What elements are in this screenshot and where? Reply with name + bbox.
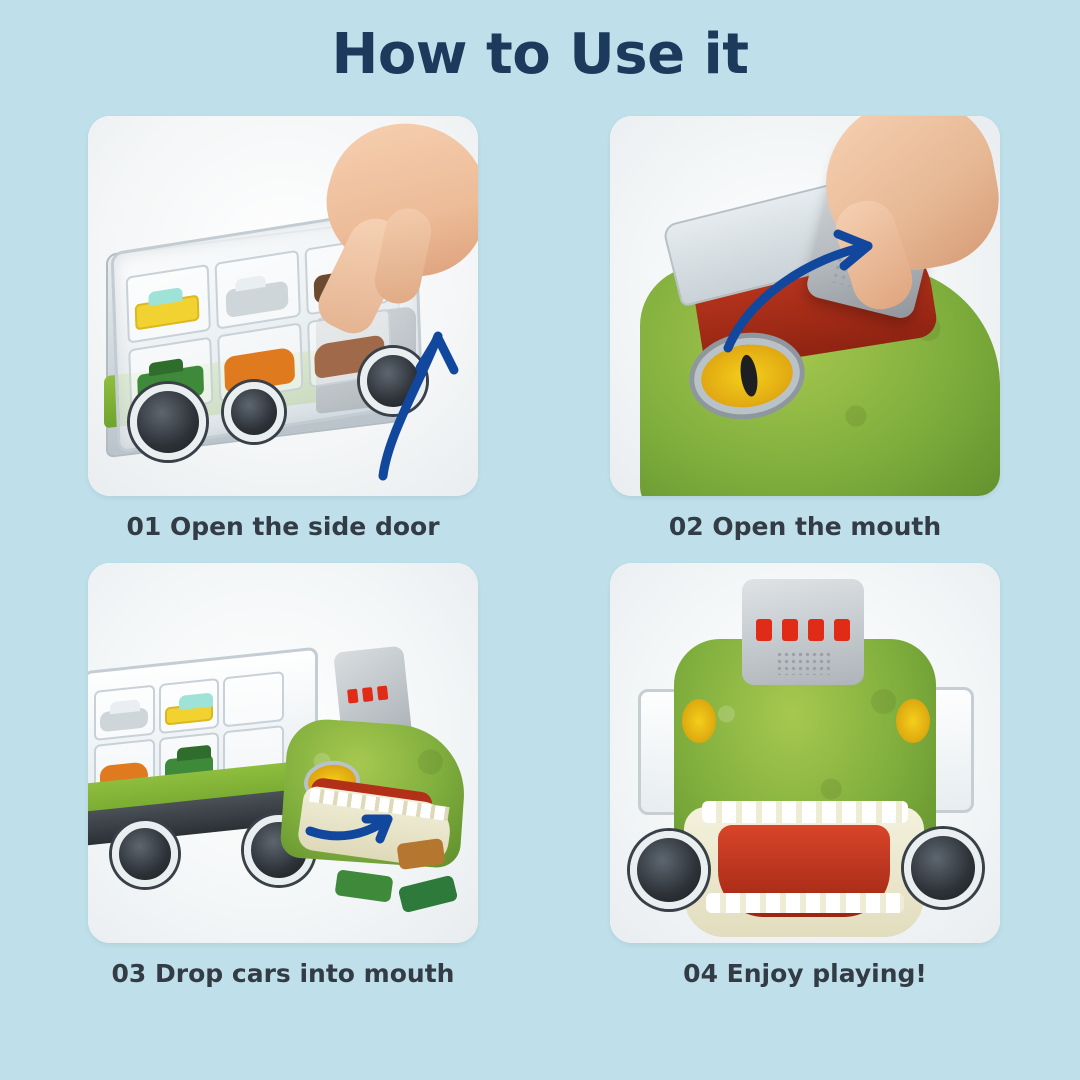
step-photo-02 [610, 116, 1000, 496]
step-card-04: 04 Enjoy playing! [610, 563, 1000, 988]
step-caption-01: 01 Open the side door [88, 512, 478, 541]
dinosaur-eye [896, 699, 930, 743]
remote-red-button [782, 619, 798, 641]
truck-wheel [630, 831, 708, 909]
curved-up-right-arrow-icon [610, 116, 1000, 496]
steps-grid: 01 Open the side door [88, 116, 1000, 988]
remote-red-button [756, 619, 772, 641]
step-card-03: 03 Drop cars into mouth [88, 563, 478, 988]
page-title: How to Use it [0, 22, 1080, 87]
dinosaur-eye [682, 699, 716, 743]
remote-red-button [808, 619, 824, 641]
step-card-02: 02 Open the mouth [610, 116, 1000, 541]
step-caption-03: 03 Drop cars into mouth [88, 959, 478, 988]
remote-red-button [834, 619, 850, 641]
step-photo-01 [88, 116, 478, 496]
step-caption-02: 02 Open the mouth [610, 512, 1000, 541]
short-right-arrow-icon [88, 563, 478, 943]
remote-speaker-grille [776, 651, 830, 675]
dinosaur-upper-teeth [702, 801, 908, 823]
step-caption-04: 04 Enjoy playing! [610, 959, 1000, 988]
remote-red-buttons [756, 619, 850, 641]
dinosaur-lower-teeth [706, 893, 904, 913]
curved-up-arrow-icon [88, 116, 478, 496]
how-to-use-page: How to Use it [0, 0, 1080, 1080]
step-photo-04 [610, 563, 1000, 943]
remote-button-unit [742, 579, 864, 685]
truck-wheel [904, 829, 982, 907]
step-card-01: 01 Open the side door [88, 116, 478, 541]
step-photo-03 [88, 563, 478, 943]
